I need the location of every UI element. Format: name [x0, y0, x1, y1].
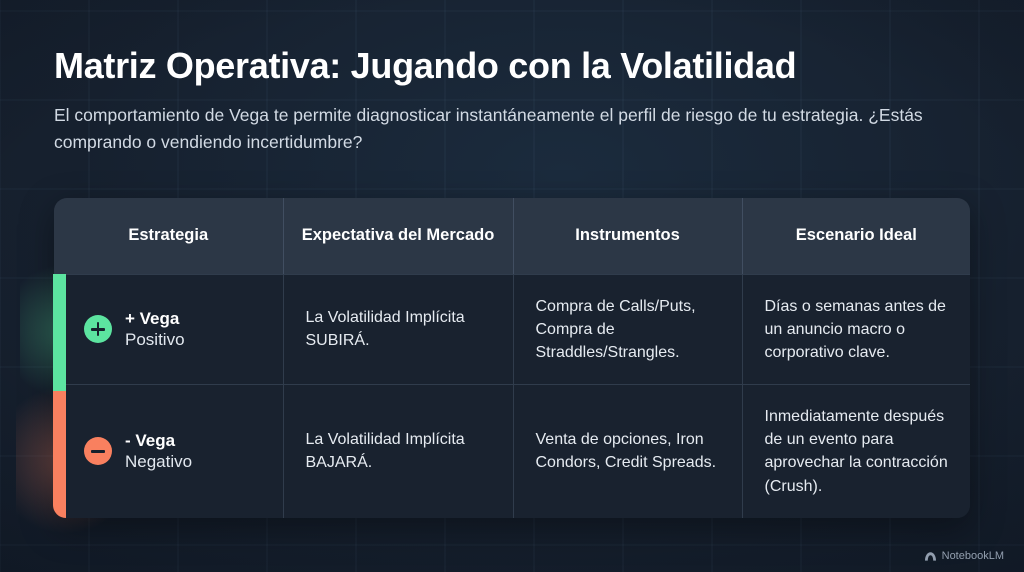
minus-icon [84, 437, 112, 465]
matrix-table: Estrategia Expectativa del Mercado Instr… [54, 198, 970, 518]
notebooklm-watermark: NotebookLM [924, 550, 1004, 562]
page-title: Matriz Operativa: Jugando con la Volatil… [54, 46, 954, 86]
table-header-row: Estrategia Expectativa del Mercado Instr… [54, 198, 970, 274]
cell-instrumentos-positivo: Compra de Calls/Puts, Compra de Straddle… [513, 274, 742, 385]
accent-segment-positive [53, 274, 66, 391]
strategy-subtitle: Positivo [125, 329, 185, 350]
accent-segment-negative [53, 391, 66, 518]
column-header-instrumentos: Instrumentos [513, 198, 742, 274]
cell-escenario-negativo: Inmediatamente después de un evento para… [742, 385, 970, 518]
matrix-table-container: Estrategia Expectativa del Mercado Instr… [54, 198, 970, 518]
row-accent-bar [53, 274, 66, 518]
strategy-subtitle: Negativo [125, 451, 192, 472]
column-header-escenario: Escenario Ideal [742, 198, 970, 274]
plus-icon [84, 315, 112, 343]
notebooklm-icon [924, 551, 937, 562]
cell-expectativa-negativo: La Volatilidad Implícita BAJARÁ. [283, 385, 513, 518]
watermark-label: NotebookLM [942, 550, 1004, 562]
cell-estrategia-negativo: - Vega Negativo [54, 385, 283, 518]
page-subtitle: El comportamiento de Vega te permite dia… [54, 102, 934, 156]
column-header-expectativa: Expectativa del Mercado [283, 198, 513, 274]
cell-estrategia-positivo: + Vega Positivo [54, 274, 283, 385]
table-body: + Vega Positivo La Volatilidad Implícita… [54, 274, 970, 518]
slide-canvas: Matriz Operativa: Jugando con la Volatil… [0, 0, 1024, 572]
column-header-estrategia: Estrategia [54, 198, 283, 274]
cell-expectativa-positivo: La Volatilidad Implícita SUBIRÁ. [283, 274, 513, 385]
cell-escenario-positivo: Días o semanas antes de un anuncio macro… [742, 274, 970, 385]
table-header: Estrategia Expectativa del Mercado Instr… [54, 198, 970, 274]
table-row: + Vega Positivo La Volatilidad Implícita… [54, 274, 970, 385]
cell-instrumentos-negativo: Venta de opciones, Iron Condors, Credit … [513, 385, 742, 518]
strategy-name: - Vega [125, 430, 192, 451]
table-row: - Vega Negativo La Volatilidad Implícita… [54, 385, 970, 518]
strategy-name: + Vega [125, 308, 185, 329]
header-block: Matriz Operativa: Jugando con la Volatil… [54, 46, 954, 157]
